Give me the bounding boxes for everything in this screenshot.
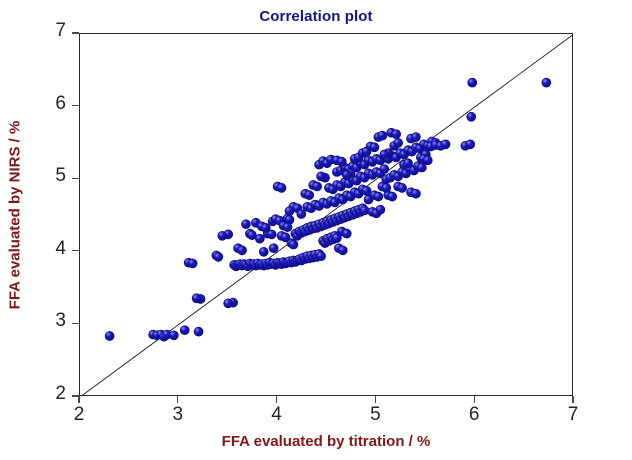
scatter-point [218, 231, 227, 240]
scatter-point [317, 172, 326, 181]
scatter-point [277, 183, 286, 192]
x-tick [375, 396, 376, 403]
scatter-point [441, 140, 450, 149]
y-tick [72, 323, 79, 324]
scatter-point [467, 112, 476, 121]
scatter-point [380, 165, 389, 174]
scatter-point [542, 78, 551, 87]
scatter-point [289, 240, 298, 249]
x-tick [78, 396, 79, 403]
scatter-point [317, 252, 326, 261]
scatter-point [378, 131, 387, 140]
y-tick-label: 2 [40, 383, 66, 405]
scatter-point [468, 78, 477, 87]
scatter-point [411, 189, 420, 198]
scatter-point [283, 223, 292, 232]
scatter-point [404, 159, 413, 168]
scatter-point [374, 192, 383, 201]
scatter-point [342, 170, 351, 179]
x-tick [177, 396, 178, 403]
scatter-point [382, 183, 391, 192]
scatter-point [362, 147, 371, 156]
y-tick-label: 4 [40, 238, 66, 260]
scatter-point [214, 252, 223, 261]
scatter-point [411, 133, 420, 142]
scatter-point [192, 294, 201, 303]
scatter-point [417, 163, 426, 172]
scatter-point [392, 130, 401, 139]
y-axis-title: FFA evaluated by NIRS / % [7, 120, 24, 309]
x-tick [572, 396, 573, 403]
scatter-point [362, 186, 371, 195]
scatter-point [394, 138, 403, 147]
x-tick-label: 2 [64, 404, 94, 426]
scatter-point [342, 229, 351, 238]
y-tick [72, 178, 79, 179]
y-tick [72, 250, 79, 251]
x-tick-label: 7 [558, 404, 588, 426]
scatter-point [255, 234, 264, 243]
x-axis-title: FFA evaluated by titration / % [79, 433, 573, 450]
y-tick [72, 32, 79, 33]
scatter-point [398, 183, 407, 192]
scatter-point [269, 244, 278, 253]
scatter-point [281, 233, 290, 242]
scatter-point [188, 259, 197, 268]
x-tick [276, 396, 277, 403]
scatter-point [238, 246, 247, 255]
scatter-point [360, 206, 369, 215]
x-tick-label: 5 [360, 404, 390, 426]
scatter-point [337, 157, 346, 166]
x-tick-label: 6 [459, 404, 489, 426]
scatter-point [261, 223, 270, 232]
scatter-point [338, 246, 347, 255]
scatter-point [194, 327, 203, 336]
y-tick-label: 6 [40, 93, 66, 115]
scatter-point [313, 182, 322, 191]
y-tick-label: 5 [40, 165, 66, 187]
scatter-point [241, 220, 250, 229]
scatter-point [376, 205, 385, 214]
y-tick-label: 7 [40, 20, 66, 42]
scatter-point [370, 143, 379, 152]
scatter-point [297, 210, 306, 219]
y-tick-label: 3 [40, 310, 66, 332]
scatter-point [259, 247, 268, 256]
plot-area [79, 33, 573, 396]
page-title: Correlation plot [0, 8, 632, 25]
scatter-point [285, 207, 294, 216]
scatter-point [466, 140, 475, 149]
scatter-point [305, 191, 314, 200]
scatter-series-ffa-samples [105, 78, 551, 341]
y-tick [72, 395, 79, 396]
scatter-points-layer [80, 34, 573, 396]
scatter-point [380, 150, 389, 159]
x-tick-label: 4 [262, 404, 292, 426]
scatter-point [105, 332, 114, 341]
correlation-plot-figure: Correlation plot 234567 234567 FFA evalu… [0, 0, 632, 460]
scatter-point [423, 156, 432, 165]
x-tick [474, 396, 475, 403]
scatter-point [169, 331, 178, 340]
scatter-point [224, 299, 233, 308]
scatter-point [388, 192, 397, 201]
y-tick [72, 105, 79, 106]
y-axis-title-wrap: FFA evaluated by NIRS / % [0, 33, 30, 396]
x-tick-label: 3 [163, 404, 193, 426]
scatter-point [180, 326, 189, 335]
